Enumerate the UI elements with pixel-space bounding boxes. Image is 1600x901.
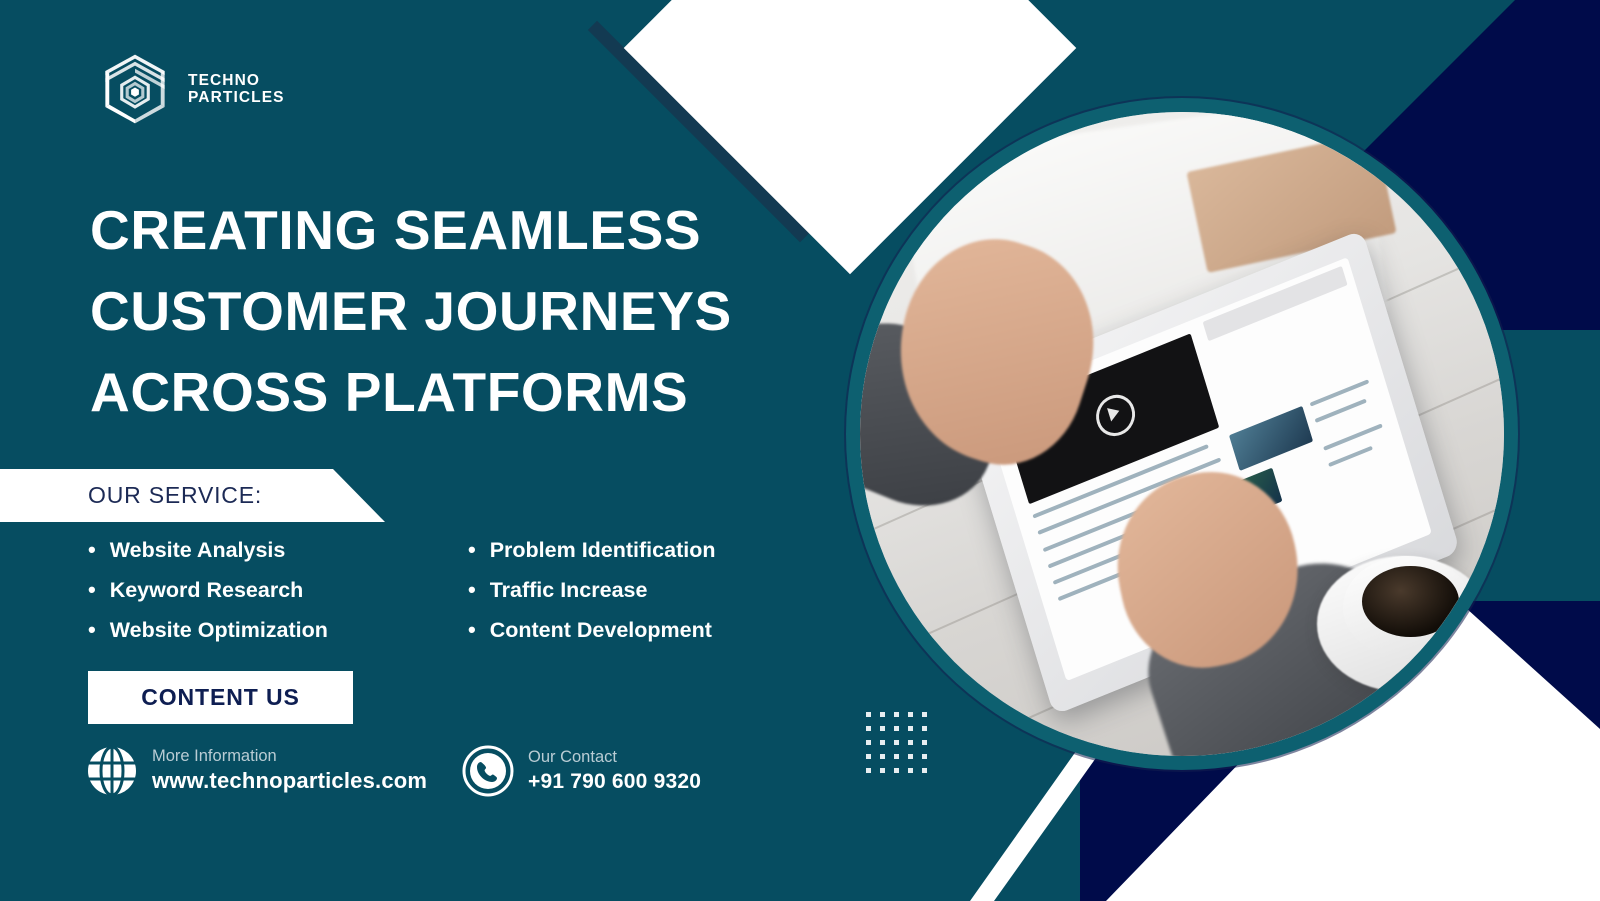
dot [908,712,913,717]
dot [908,740,913,745]
list-item-label: Content Development [490,615,712,646]
contact-phone-label: Our Contact [528,747,701,768]
headline-line-2: CUSTOMER JOURNEYS [90,271,880,352]
services-list: • Website Analysis • Keyword Research • … [88,535,848,656]
dot [908,768,913,773]
globe-icon [86,745,138,797]
dot [894,740,899,745]
list-item-label: Website Analysis [110,535,286,566]
contact-phone[interactable]: Our Contact +91 790 600 9320 [462,745,701,797]
logo-line-2: PARTICLES [188,89,285,106]
dot [880,740,885,745]
dot [866,712,871,717]
list-item: • Website Optimization [88,615,468,646]
list-item-label: Keyword Research [110,575,304,606]
brand-logo[interactable]: TECHNO PARTICLES [96,50,285,128]
dot [922,712,927,717]
dot [880,726,885,731]
contact-website[interactable]: More Information www.technoparticles.com [86,745,427,797]
headline-line-1: CREATING SEAMLESS [90,190,880,271]
bullet-icon: • [88,619,96,641]
services-column-right: • Problem Identification • Traffic Incre… [468,535,848,656]
dot [894,768,899,773]
contact-phone-value: +91 790 600 9320 [528,768,701,795]
dot [894,712,899,717]
headline-line-3: ACROSS PLATFORMS [90,352,880,433]
bullet-icon: • [468,579,476,601]
list-item: • Keyword Research [88,575,468,606]
bullet-icon: • [468,619,476,641]
list-item: • Traffic Increase [468,575,848,606]
dot-grid-decoration [866,712,927,773]
contact-website-value: www.technoparticles.com [152,767,427,796]
dot [922,726,927,731]
dot [866,754,871,759]
dot [880,712,885,717]
phone-circle-icon [462,745,514,797]
dot [908,754,913,759]
bullet-icon: • [88,579,96,601]
dot [866,768,871,773]
list-item: • Website Analysis [88,535,468,566]
list-item-label: Website Optimization [110,615,328,646]
services-column-left: • Website Analysis • Keyword Research • … [88,535,468,656]
isometric-cube-logo-icon [96,50,174,128]
list-item: • Problem Identification [468,535,848,566]
bullet-icon: • [88,539,96,561]
bullet-icon: • [468,539,476,561]
promo-banner: TECHNO PARTICLES CREATING SEAMLESS CUSTO… [0,0,1600,901]
list-item: • Content Development [468,615,848,646]
photo-ring [846,98,1518,770]
dot [922,740,927,745]
dot [866,740,871,745]
dot [880,768,885,773]
page-title: CREATING SEAMLESS CUSTOMER JOURNEYS ACRO… [90,190,880,433]
dot [894,726,899,731]
dot [922,754,927,759]
dot [894,754,899,759]
list-item-label: Traffic Increase [490,575,648,606]
dot [866,726,871,731]
service-banner-label: OUR SERVICE: [88,482,262,509]
hero-photo [860,112,1504,756]
contact-us-button[interactable]: CONTENT US [88,671,353,724]
article-thumbnail [1229,406,1313,471]
coffee-liquid [1362,566,1459,637]
dot [908,726,913,731]
dot [922,768,927,773]
logo-line-1: TECHNO [188,72,285,89]
contact-website-label: More Information [152,746,427,767]
dot [880,754,885,759]
service-banner: OUR SERVICE: [0,469,385,522]
play-icon [1107,404,1121,422]
list-item-label: Problem Identification [490,535,716,566]
